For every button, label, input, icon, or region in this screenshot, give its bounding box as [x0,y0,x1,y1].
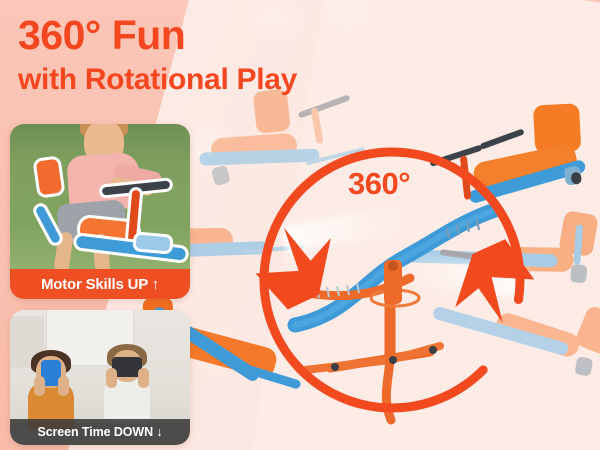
child-right-hand-2 [138,368,149,388]
headline-line-2: with Rotational Play [18,61,297,99]
headline-block: 360° Fun with Rotational Play [18,14,297,99]
badge-screen-time-label: Screen Time DOWN ↓ [37,425,162,439]
badge-screen-time: Screen Time DOWN ↓ [10,419,190,445]
rotation-degree-label: 360° [348,166,410,202]
card-outdoor-riding[interactable]: Motor Skills UP ↑ [10,124,190,299]
card-indoor-screens[interactable]: Screen Time DOWN ↓ [10,310,190,445]
toy-seatback [36,159,63,196]
child-left-hand-2 [58,376,69,396]
child-right-hand [106,368,117,388]
badge-motor-skills: Motor Skills UP ↑ [10,269,190,299]
child-left-hand [34,376,45,396]
badge-motor-skills-label: Motor Skills UP ↑ [41,276,159,293]
toy-wheel-rail [135,235,170,252]
banner-stage: 360° Fun with Rotational Play [0,0,600,450]
product-illustration: 360° [195,120,595,445]
bokeh-dot-3 [330,0,364,24]
headline-line-1: 360° Fun [18,14,297,57]
